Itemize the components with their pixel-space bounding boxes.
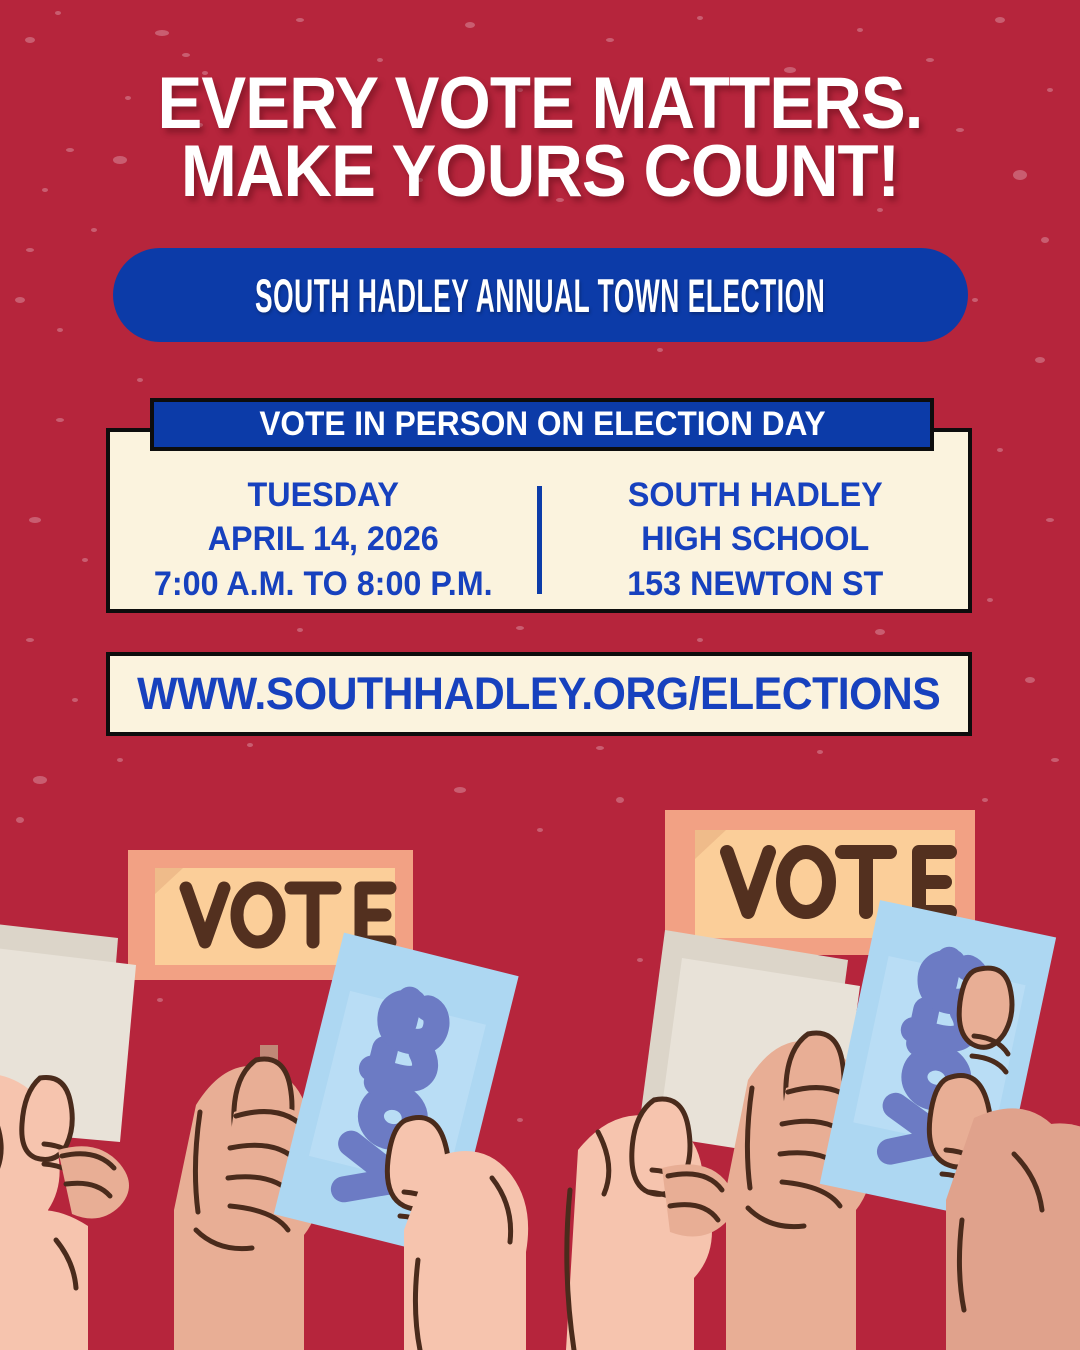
arm-far-left (0, 1210, 88, 1350)
voting-hours: 7:00 A.M. TO 8:00 P.M. (121, 562, 526, 607)
poster-root: EVERY VOTE MATTERS. MAKE YOURS COUNT! SO… (0, 0, 1080, 1350)
location-town: SOUTH HADLEY (552, 473, 957, 518)
website-card[interactable]: WWW.SOUTHHADLEY.ORG/ELECTIONS (106, 652, 972, 736)
protest-hands-illustration (0, 760, 1080, 1350)
headline-line-2: MAKE YOURS COUNT! (43, 138, 1037, 206)
voting-date-column: TUESDAY APRIL 14, 2026 7:00 A.M. TO 8:00… (121, 473, 526, 607)
page-title: EVERY VOTE MATTERS. MAKE YOURS COUNT! (43, 70, 1037, 206)
voting-info-header-bar: VOTE IN PERSON ON ELECTION DAY (150, 398, 934, 451)
website-url-label[interactable]: WWW.SOUTHHADLEY.ORG/ELECTIONS (137, 668, 940, 720)
location-venue: HIGH SCHOOL (552, 517, 957, 562)
voting-date: APRIL 14, 2026 (121, 517, 526, 562)
voting-info-header-label: VOTE IN PERSON ON ELECTION DAY (259, 405, 825, 444)
voting-location-column: SOUTH HADLEY HIGH SCHOOL 153 NEWTON ST (552, 473, 957, 607)
voting-info-card: TUESDAY APRIL 14, 2026 7:00 A.M. TO 8:00… (106, 428, 972, 613)
election-name-banner: SOUTH HADLEY ANNUAL TOWN ELECTION (113, 248, 968, 342)
election-name-label: SOUTH HADLEY ANNUAL TOWN ELECTION (255, 268, 825, 323)
voting-day: TUESDAY (121, 473, 526, 518)
voting-info-body: TUESDAY APRIL 14, 2026 7:00 A.M. TO 8:00… (110, 462, 968, 617)
column-divider (537, 486, 542, 594)
ballot-card-left-with-hand (274, 933, 528, 1350)
location-address: 153 NEWTON ST (552, 562, 957, 607)
